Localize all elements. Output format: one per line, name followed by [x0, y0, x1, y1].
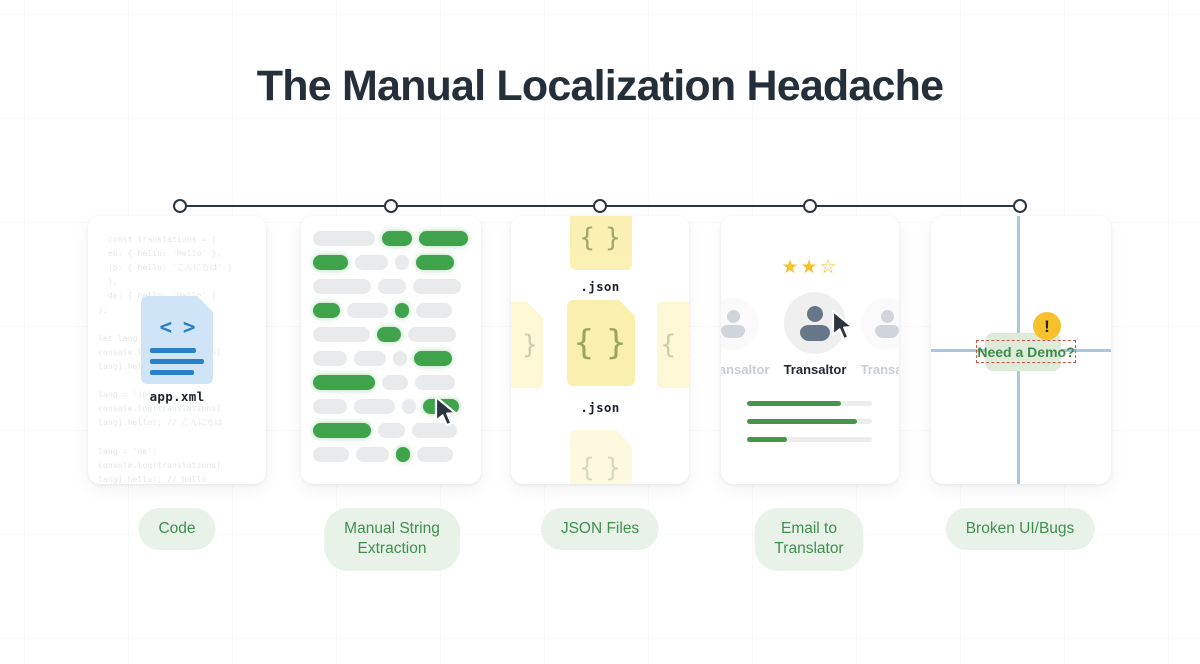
step-cards: const translations = { en: { hello: 'Hel…	[0, 216, 1200, 486]
string-pill[interactable]	[313, 279, 371, 294]
string-pill-selected[interactable]	[382, 231, 412, 246]
string-row	[313, 447, 469, 462]
string-pill-selected[interactable]	[313, 375, 375, 390]
warning-exclamation: !	[1044, 318, 1050, 335]
string-pill[interactable]	[313, 327, 370, 342]
string-pill[interactable]	[378, 279, 406, 294]
string-pill[interactable]	[413, 279, 461, 294]
string-pill-selected[interactable]	[419, 231, 468, 246]
avatar-faded-right	[861, 298, 899, 350]
json-brace-icon: { }	[567, 300, 635, 386]
progress-bar-track	[747, 401, 872, 406]
timeline-node-4[interactable]	[803, 199, 817, 213]
avatar-faded-left	[721, 298, 759, 350]
file-line	[150, 359, 204, 364]
demo-button-label[interactable]: Need a Demo?	[977, 344, 1074, 360]
progress-bar-track	[747, 437, 872, 442]
progress-bar-fill	[747, 401, 841, 406]
json-brace-icon: { }	[657, 302, 689, 388]
step-label-code[interactable]: Code	[138, 508, 215, 550]
progress-bar-fill	[747, 437, 787, 442]
json-file-side-right: { }	[657, 302, 689, 388]
string-pill[interactable]	[313, 351, 347, 366]
page-title: The Manual Localization Headache	[0, 62, 1200, 111]
progress-bar-fill	[747, 419, 857, 424]
string-row	[313, 303, 469, 318]
json-brace-icon: { }	[511, 302, 543, 388]
string-pill-selected[interactable]	[313, 255, 348, 270]
step-label-manual-string-extraction[interactable]: Manual String Extraction	[324, 508, 460, 571]
rating-stars: ★★☆	[721, 258, 899, 277]
json-brace-icon: { }	[570, 430, 632, 484]
string-row	[313, 327, 469, 342]
card-broken-ui-bugs[interactable]: Need a Demo? !	[931, 216, 1111, 484]
app-xml-file: < > app.xml	[138, 296, 216, 404]
string-pill-selected[interactable]	[313, 303, 340, 318]
json-file-stack: { } .json { } { } { } .json { }	[511, 216, 689, 484]
string-pill[interactable]	[354, 399, 395, 414]
timeline-node-5[interactable]	[1013, 199, 1027, 213]
string-pill[interactable]	[355, 255, 388, 270]
string-pill[interactable]	[395, 255, 409, 270]
mouse-pointer-icon	[831, 310, 857, 342]
timeline-node-3[interactable]	[593, 199, 607, 213]
person-icon	[875, 310, 899, 338]
string-pill[interactable]	[408, 327, 456, 342]
string-pill[interactable]	[402, 399, 416, 414]
mouse-pointer-icon	[434, 396, 460, 428]
json-brace-icon: { }	[570, 216, 632, 270]
timeline-node-2[interactable]	[384, 199, 398, 213]
string-pill-selected[interactable]	[414, 351, 452, 366]
string-pill[interactable]	[347, 303, 388, 318]
string-pill-selected[interactable]	[416, 255, 454, 270]
avatar-name-active: Transaltor	[740, 362, 890, 377]
step-label-broken-ui-bugs[interactable]: Broken UI/Bugs	[946, 508, 1095, 550]
json-file-side-left: { }	[511, 302, 543, 388]
file-name-label: app.xml	[138, 389, 216, 404]
step-label-json-files[interactable]: JSON Files	[541, 508, 659, 550]
json-file-label: .json	[511, 400, 689, 415]
card-manual-string-extraction[interactable]	[301, 216, 481, 484]
string-pill[interactable]	[313, 399, 347, 414]
string-row	[313, 231, 469, 246]
progress-bar-track	[747, 419, 872, 424]
string-pill[interactable]	[378, 423, 405, 438]
code-file-icon: < >	[141, 296, 213, 384]
person-icon	[721, 310, 745, 338]
string-pill[interactable]	[416, 303, 452, 318]
string-pill[interactable]	[415, 375, 455, 390]
string-pill[interactable]	[313, 447, 349, 462]
string-pill-selected[interactable]	[395, 303, 409, 318]
string-pill-selected[interactable]	[377, 327, 401, 342]
string-row	[313, 351, 469, 366]
json-file-bottom: { }	[570, 430, 632, 484]
string-row	[313, 255, 469, 270]
card-email-to-translator[interactable]: ★★☆ Transaltor Transaltor Transaltor	[721, 216, 899, 484]
json-file-top: { }	[570, 216, 632, 270]
string-pill[interactable]	[313, 231, 375, 246]
step-label-email-to-translator[interactable]: Email to Translator	[754, 508, 863, 571]
timeline-line	[180, 205, 1021, 207]
card-json-files[interactable]: { } .json { } { } { } .json { }	[511, 216, 689, 484]
string-row	[313, 279, 469, 294]
json-file-main: { }	[567, 300, 635, 386]
string-rows	[301, 216, 481, 484]
string-pill-selected[interactable]	[396, 447, 410, 462]
code-chevrons-icon: < >	[141, 315, 213, 339]
timeline-node-1[interactable]	[173, 199, 187, 213]
string-pill[interactable]	[382, 375, 408, 390]
card-code[interactable]: const translations = { en: { hello: 'Hel…	[88, 216, 266, 484]
string-pill[interactable]	[356, 447, 389, 462]
file-line	[150, 348, 196, 353]
string-pill[interactable]	[354, 351, 386, 366]
json-file-label: .json	[511, 279, 689, 294]
string-pill-selected[interactable]	[313, 423, 371, 438]
file-line	[150, 370, 194, 375]
string-pill[interactable]	[393, 351, 407, 366]
warning-badge-icon[interactable]: !	[1033, 312, 1061, 340]
string-row	[313, 375, 469, 390]
overflow-marker: Need a Demo?	[976, 340, 1076, 363]
person-icon	[800, 306, 830, 341]
step-labels: Code Manual String Extraction JSON Files…	[0, 508, 1200, 588]
string-pill[interactable]	[417, 447, 453, 462]
